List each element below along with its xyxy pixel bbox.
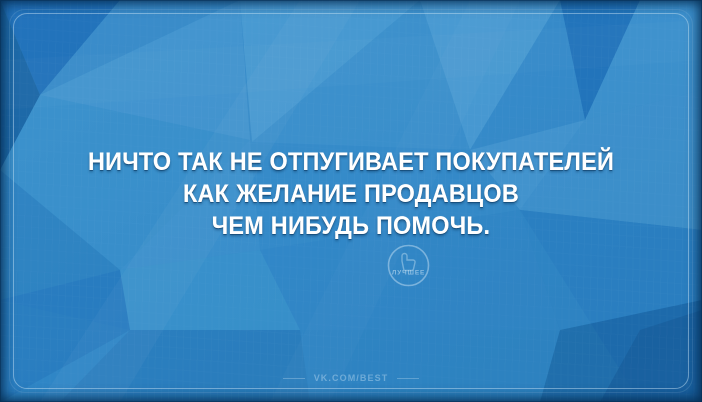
low-poly-background (0, 0, 702, 402)
postcard-image: НИЧТО ТАК НЕ ОТПУГИВАЕТ ПОКУПАТЕЛЕЙ КАК … (0, 0, 702, 402)
